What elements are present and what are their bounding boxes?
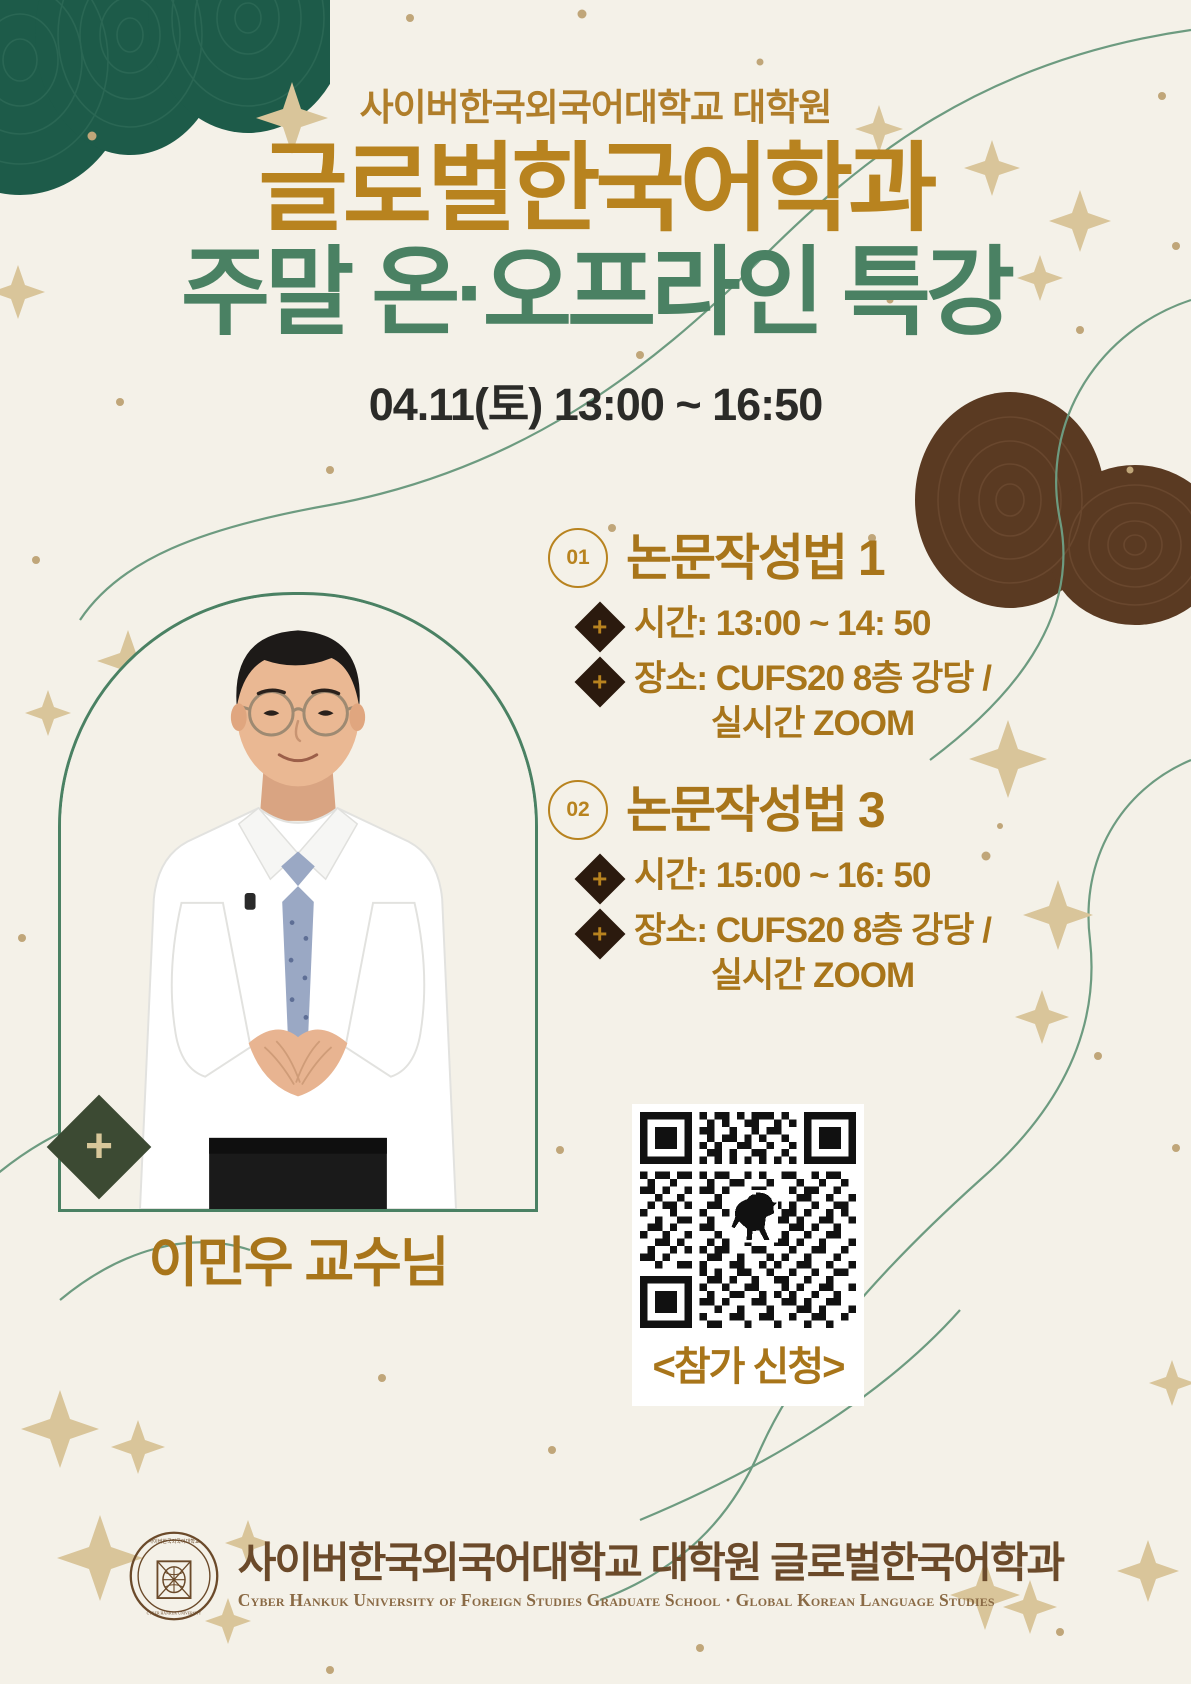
- header-title-line2: 주말 온·오프라인 특강: [0, 241, 1191, 346]
- university-seal-icon: 사이버한국외국어대학교 CYBER HANKUK UNIVERSITY: [128, 1530, 220, 1622]
- footer-korean: 사이버한국외국어대학교 대학원 글로벌한국어학과: [238, 1541, 1063, 1585]
- session-place-row: + 장소: CUFS20 8층 강당 / 실시간 ZOOM: [582, 909, 1078, 999]
- plus-glyph: +: [592, 669, 607, 695]
- qr-code: [640, 1112, 856, 1328]
- poster-footer: 사이버한국외국어대학교 CYBER HANKUK UNIVERSITY 사이버한…: [0, 1530, 1191, 1622]
- poster-header: 사이버한국외국어대학교 대학원 글로벌한국어학과 주말 온·오프라인 특강 04…: [0, 88, 1191, 433]
- plus-glyph: +: [592, 866, 607, 892]
- session-time-label: 시간: 13:00 ~ 14: 50: [634, 602, 930, 647]
- session-number-badge: 02: [548, 780, 608, 840]
- session-header: 02 논문작성법 3: [548, 780, 1078, 840]
- session-time-row: + 시간: 15:00 ~ 16: 50: [582, 854, 1078, 899]
- qr-caption: <참가 신청>: [640, 1328, 856, 1402]
- diamond-plus-icon: +: [575, 854, 626, 905]
- session-title: 논문작성법 1: [626, 532, 884, 585]
- header-kicker: 사이버한국외국어대학교 대학원: [0, 88, 1191, 129]
- session-item-01: 01 논문작성법 1 + 시간: 13:00 ~ 14: 50 + 장소: CU…: [548, 528, 1078, 746]
- svg-text:사이버한국외국어대학교: 사이버한국외국어대학교: [148, 1538, 199, 1545]
- diamond-plus-icon: +: [575, 602, 626, 653]
- header-datetime: 04.11(토) 13:00 ~ 16:50: [0, 368, 1191, 433]
- session-place-label: 장소: CUFS20 8층 강당 / 실시간 ZOOM: [634, 909, 991, 999]
- footer-english: Cyber Hankuk University of Foreign Studi…: [238, 1590, 1063, 1611]
- session-place-line1: 장소: CUFS20 8층 강당 /: [634, 911, 991, 950]
- session-list: 01 논문작성법 1 + 시간: 13:00 ~ 14: 50 + 장소: CU…: [548, 528, 1078, 1033]
- professor-photo: [61, 595, 535, 1209]
- plus-glyph: +: [85, 1123, 113, 1171]
- session-place-line2: 실시간 ZOOM: [634, 702, 991, 747]
- session-time-row: + 시간: 13:00 ~ 14: 50: [582, 602, 1078, 647]
- professor-name: 이민우 교수님: [58, 1218, 538, 1297]
- session-time-label: 시간: 15:00 ~ 16: 50: [634, 854, 930, 899]
- session-title: 논문작성법 3: [626, 784, 884, 837]
- dinosaur-icon: [729, 1190, 777, 1242]
- session-place-row: + 장소: CUFS20 8층 강당 / 실시간 ZOOM: [582, 657, 1078, 747]
- session-place-line1: 장소: CUFS20 8층 강당 /: [634, 659, 991, 698]
- arch-frame: [58, 592, 538, 1212]
- footer-text-group: 사이버한국외국어대학교 대학원 글로벌한국어학과 Cyber Hankuk Un…: [238, 1541, 1063, 1610]
- diamond-plus-icon: +: [575, 656, 626, 707]
- session-number-badge: 01: [548, 528, 608, 588]
- svg-text:CYBER HANKUK UNIVERSITY: CYBER HANKUK UNIVERSITY: [146, 1612, 201, 1616]
- professor-portrait-frame: [58, 592, 538, 1212]
- diamond-plus-icon: +: [575, 909, 626, 960]
- session-place-line2: 실시간 ZOOM: [634, 954, 991, 999]
- poster-root: 사이버한국외국어대학교 대학원 글로벌한국어학과 주말 온·오프라인 특강 04…: [0, 0, 1191, 1684]
- qr-registration-block[interactable]: <참가 신청>: [632, 1104, 864, 1406]
- header-title-line1: 글로벌한국어학과: [0, 137, 1191, 242]
- plus-glyph: +: [592, 921, 607, 947]
- session-header: 01 논문작성법 1: [548, 528, 1078, 588]
- plus-glyph: +: [592, 614, 607, 640]
- session-item-02: 02 논문작성법 3 + 시간: 15:00 ~ 16: 50 + 장소: CU…: [548, 780, 1078, 998]
- session-place-label: 장소: CUFS20 8층 강당 / 실시간 ZOOM: [634, 657, 991, 747]
